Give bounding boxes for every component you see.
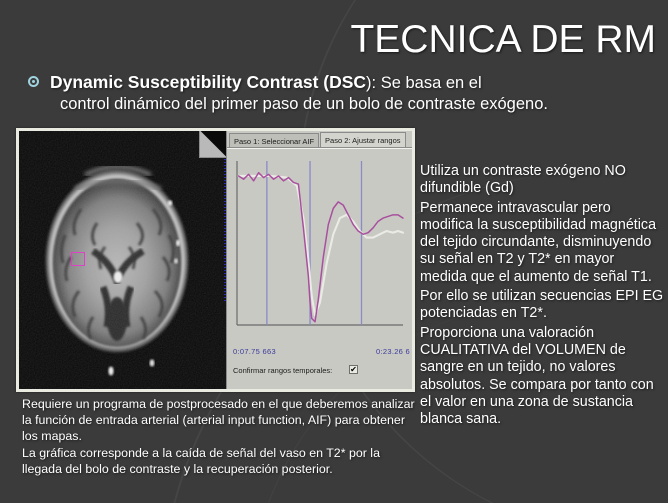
bullet-strong-text: Dynamic Susceptibility Contrast (DSC: [50, 72, 366, 92]
bullet-rest-text: ): Se basa en el: [366, 74, 482, 92]
corner-fold-icon[interactable]: [199, 131, 226, 158]
bullet-marker: [24, 76, 42, 87]
tab-paso-1[interactable]: Paso 1: Seleccionar AIF: [229, 133, 319, 148]
slide-canvas: TECNICA DE RM Dynamic Susceptibility Con…: [0, 0, 668, 503]
page-title: TECNICA DE RM: [350, 18, 656, 62]
bullet-text: Dynamic Susceptibility Contrast (DSC): S…: [42, 72, 548, 115]
chart-pane: Paso 1: Seleccionar AIF Paso 2: Ajustar …: [226, 131, 412, 389]
bullet-second-line: control dinámico del primer paso de un b…: [50, 94, 548, 115]
tab-strip: Paso 1: Seleccionar AIF Paso 2: Ajustar …: [227, 131, 412, 148]
right-paragraph-4: Proporciona una valoración CUALITATIVA d…: [420, 325, 664, 429]
confirm-ranges-row[interactable]: Confirmar rangos temporales: ✔: [227, 361, 412, 379]
caption-paragraph-1: Requiere un programa de postprocesado en…: [22, 396, 422, 445]
bullet-block: Dynamic Susceptibility Contrast (DSC): S…: [24, 72, 654, 115]
time-readout-row: 0:07.75 663 0:23.26 6: [227, 344, 412, 361]
application-screenshot-panel: Paso 1: Seleccionar AIF Paso 2: Ajustar …: [16, 128, 415, 392]
right-paragraph-1: Utiliza un contraste exógeno NO difundib…: [420, 163, 664, 198]
mri-image-pane[interactable]: [19, 131, 226, 389]
confirm-ranges-label: Confirmar rangos temporales:: [233, 366, 332, 375]
caption-paragraph-2: La gráfica corresponde a la caída de señ…: [22, 445, 422, 477]
confirm-ranges-checkbox[interactable]: ✔: [349, 365, 358, 374]
plot-svg: [227, 149, 412, 345]
axial-brain-mri-image: [19, 131, 226, 389]
signal-intensity-plot[interactable]: [227, 148, 412, 344]
tab-paso-2[interactable]: Paso 2: Ajustar rangos: [320, 132, 405, 148]
bottom-caption: Requiere un programa de postprocesado en…: [22, 396, 422, 477]
bullet-target-icon: [28, 76, 39, 87]
right-paragraph-3: Por ello se utilizan secuencias EPI EG p…: [420, 288, 664, 323]
readout-start-value: 0:07.75 663: [233, 347, 276, 356]
roi-selection-box[interactable]: [71, 252, 85, 266]
right-text-column: Utiliza un contraste exógeno NO difundib…: [420, 163, 664, 430]
right-paragraph-2: Permanece intravascular pero modifica la…: [420, 200, 664, 286]
readout-end-value: 0:23.26 6: [376, 347, 410, 356]
application-window: Paso 1: Seleccionar AIF Paso 2: Ajustar …: [19, 131, 412, 389]
